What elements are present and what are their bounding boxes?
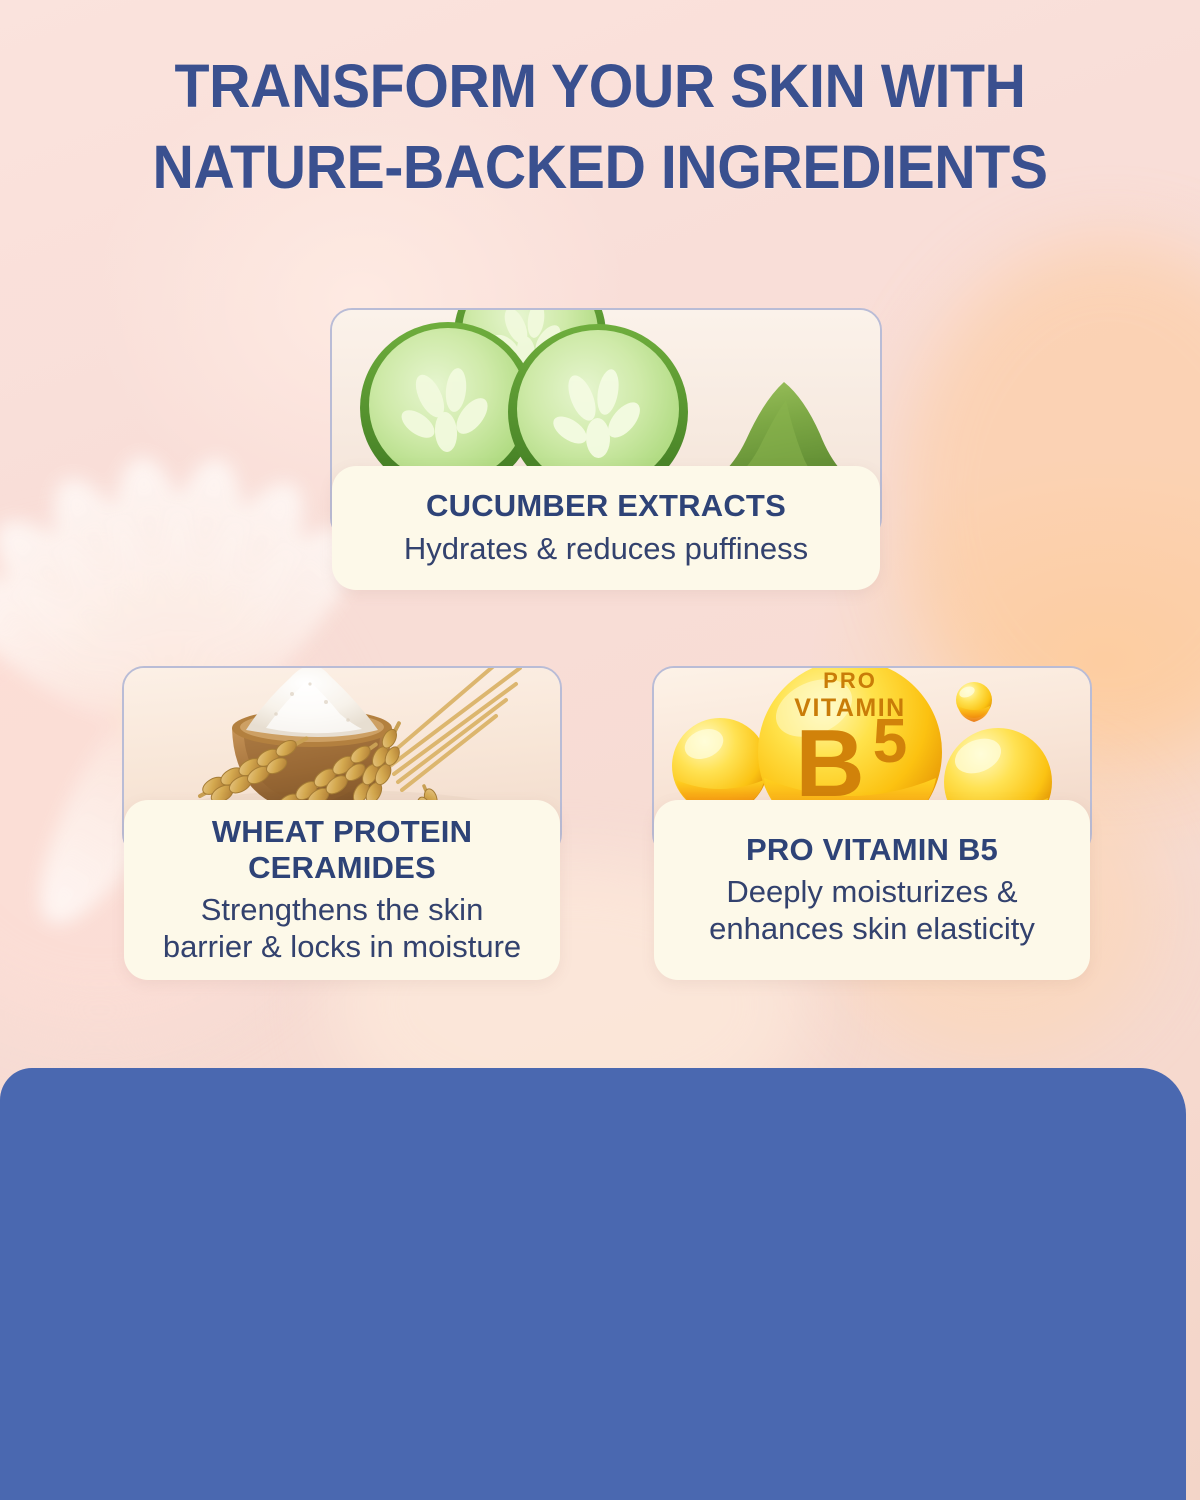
wheat-card-title: WHEAT PROTEIN CERAMIDES xyxy=(138,814,546,886)
cucumber-card-title: CUCUMBER EXTRACTS xyxy=(346,488,866,524)
b5-desc-line-2: enhances skin elasticity xyxy=(709,911,1035,946)
cucumber-card-description: Hydrates & reduces puffiness xyxy=(346,531,866,568)
wheat-card-description: Strengthens the skin barrier & locks in … xyxy=(138,892,546,965)
headline-line-1: TRANSFORM YOUR SKIN WITH xyxy=(36,46,1164,127)
wheat-title-line-2: CERAMIDES xyxy=(248,850,436,885)
headline-line-2: NATURE-BACKED INGREDIENTS xyxy=(36,127,1164,208)
wheat-card-text: WHEAT PROTEIN CERAMIDES Strengthens the … xyxy=(124,800,560,980)
wheat-desc-line-1: Strengthens the skin xyxy=(201,892,484,927)
page-title: TRANSFORM YOUR SKIN WITH NATURE-BACKED I… xyxy=(36,46,1164,208)
wheat-desc-line-2: barrier & locks in moisture xyxy=(163,929,521,964)
wheat-title-line-1: WHEAT PROTEIN xyxy=(212,814,472,849)
b5-card-title: PRO VITAMIN B5 xyxy=(668,832,1076,868)
benefits-panel: ALOE VERA EXTRACTS Soothes & promotes sk… xyxy=(0,1068,1186,1500)
b5-desc-line-1: Deeply moisturizes & xyxy=(726,874,1017,909)
b5-card-text: PRO VITAMIN B5 Deeply moisturizes & enha… xyxy=(654,800,1090,980)
cucumber-card-text: CUCUMBER EXTRACTS Hydrates & reduces puf… xyxy=(332,466,880,590)
b5-droplet-label-pro: PRO xyxy=(823,668,877,693)
b5-droplet-label-5: 5 xyxy=(873,707,907,776)
infographic-page: TRANSFORM YOUR SKIN WITH NATURE-BACKED I… xyxy=(0,0,1200,1500)
b5-card-description: Deeply moisturizes & enhances skin elast… xyxy=(668,874,1076,947)
